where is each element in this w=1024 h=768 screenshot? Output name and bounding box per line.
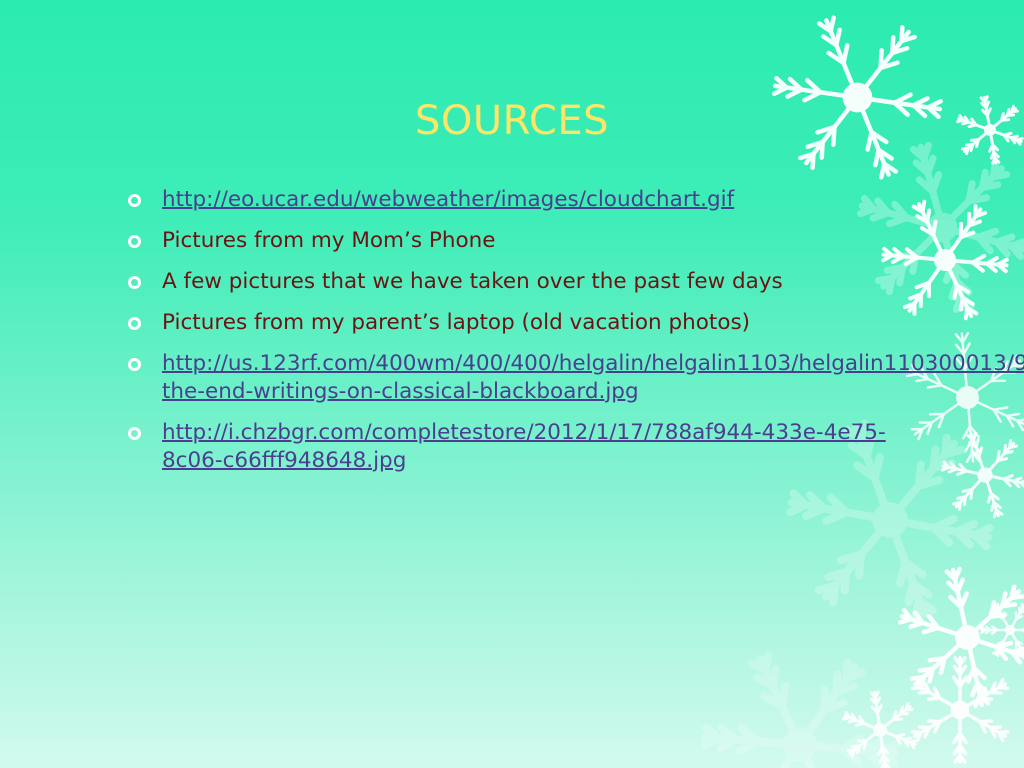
source-link[interactable]: http://i.chzbgr.com/completestore/2012/1…: [162, 419, 902, 475]
source-link[interactable]: http://us.123rf.com/400wm/400/400/helgal…: [162, 350, 902, 406]
presentation-slide: SOURCES http://eo.ucar.edu/webweather/im…: [0, 0, 1024, 768]
snowflake-icon: [828, 678, 932, 768]
page-title: SOURCES: [0, 98, 1024, 144]
list-item: http://us.123rf.com/400wm/400/400/helgal…: [128, 350, 928, 406]
snowflake-icon: [885, 635, 1024, 768]
snowflake-icon: [932, 422, 1024, 529]
ring-bullet-icon: [128, 309, 162, 330]
list-item: A few pictures that we have taken over t…: [128, 268, 928, 296]
source-link[interactable]: http://eo.ucar.edu/webweather/images/clo…: [162, 186, 734, 214]
snowflake-icon: [980, 600, 1024, 660]
list-item: http://eo.ucar.edu/webweather/images/clo…: [128, 186, 928, 214]
source-text: Pictures from my parent’s laptop (old va…: [162, 309, 750, 337]
ring-bullet-icon: [128, 227, 162, 248]
sources-bullet-list: http://eo.ucar.edu/webweather/images/clo…: [128, 186, 928, 488]
list-item: Pictures from my parent’s laptop (old va…: [128, 309, 928, 337]
snowflake-icon: [692, 637, 909, 768]
ring-bullet-icon: [128, 419, 162, 440]
snowflake-icon: [876, 546, 1024, 729]
ring-bullet-icon: [128, 186, 162, 207]
ring-bullet-icon: [128, 350, 162, 371]
ring-bullet-icon: [128, 268, 162, 289]
source-text: A few pictures that we have taken over t…: [162, 268, 783, 296]
list-item: Pictures from my Mom’s Phone: [128, 227, 928, 255]
source-text: Pictures from my Mom’s Phone: [162, 227, 495, 255]
list-item: http://i.chzbgr.com/completestore/2012/1…: [128, 419, 928, 475]
